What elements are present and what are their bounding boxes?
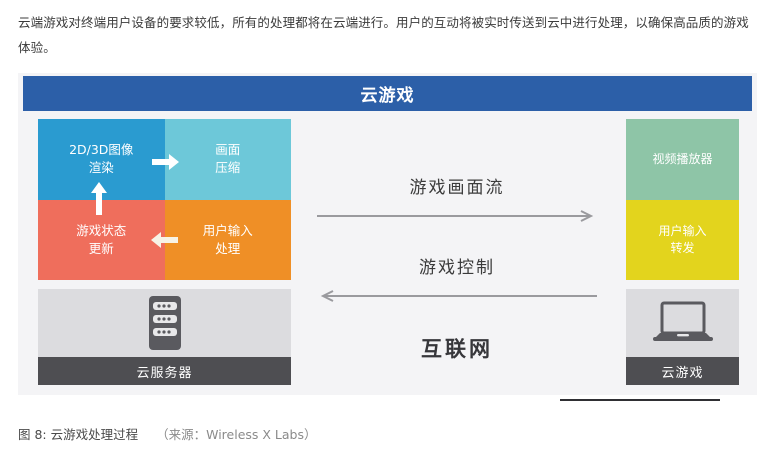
- page-edge-rule: [560, 399, 720, 401]
- quadrant-compress: 画面 压缩: [165, 119, 292, 200]
- flow-game-control-label: 游戏控制: [301, 253, 613, 278]
- server-rack-icon: [148, 295, 182, 351]
- flow-game-control: 游戏控制: [301, 253, 613, 307]
- figure-body: 2D/3D图像 渲染 画面 压缩 游戏状态 更新 用户输入 处: [18, 111, 757, 395]
- quadrant-state-line1: 游戏状态: [76, 222, 126, 240]
- figure-caption-text: 图 8: 云游戏处理过程: [18, 427, 138, 442]
- cloud-pipeline-grid: 2D/3D图像 渲染 画面 压缩 游戏状态 更新 用户输入 处: [38, 119, 291, 280]
- box-input-forward-line1: 用户输入: [658, 223, 706, 240]
- laptop-icon-wrapper: [626, 289, 739, 357]
- quadrant-user-input: 用户输入 处理: [165, 200, 292, 281]
- laptop-icon: [652, 301, 714, 345]
- client-device-label: 云游戏: [626, 357, 739, 385]
- internet-label: 互联网: [301, 333, 613, 363]
- arrow-left-long-icon: [317, 289, 597, 303]
- cloud-server-card: 云服务器: [38, 289, 291, 385]
- quadrant-render-line2: 渲染: [69, 159, 133, 177]
- network-lane: 游戏画面流 游戏控制 互联网: [301, 111, 613, 395]
- intro-paragraph: 云端游戏对终端用户设备的要求较低，所有的处理都将在云端进行。用户的互动将被实时传…: [18, 10, 757, 60]
- cloud-server-label: 云服务器: [38, 357, 291, 385]
- client-device-card: 云游戏: [626, 289, 739, 385]
- figure-container: 云游戏 2D/3D图像 渲染 画面 压缩 游戏状态 更新: [18, 73, 757, 395]
- box-input-forward: 用户输入 转发: [626, 200, 739, 281]
- box-input-forward-line2: 转发: [658, 240, 706, 257]
- figure-caption-source: （来源：Wireless X Labs）: [156, 427, 316, 442]
- quadrant-compress-line1: 画面: [215, 141, 240, 159]
- box-video-player: 视频播放器: [626, 119, 739, 200]
- server-icon-wrapper: [38, 289, 291, 357]
- arrow-right-long-icon: [317, 209, 597, 223]
- figure-header-title: 云游戏: [23, 76, 752, 111]
- quadrant-render-line1: 2D/3D图像: [69, 141, 133, 159]
- arrow-right-icon: [152, 153, 180, 171]
- quadrant-input-line1: 用户输入: [203, 222, 253, 240]
- arrow-up-icon: [90, 181, 108, 215]
- flow-video-stream: 游戏画面流: [301, 173, 613, 227]
- client-pipeline-stack: 视频播放器 用户输入 转发: [626, 119, 739, 280]
- arrow-left-icon: [150, 231, 178, 249]
- quadrant-compress-line2: 压缩: [215, 159, 240, 177]
- quadrant-input-line2: 处理: [203, 240, 253, 258]
- quadrant-state-line2: 更新: [76, 240, 126, 258]
- flow-video-stream-label: 游戏画面流: [301, 173, 613, 198]
- figure-caption: 图 8: 云游戏处理过程 （来源：Wireless X Labs）: [18, 424, 317, 443]
